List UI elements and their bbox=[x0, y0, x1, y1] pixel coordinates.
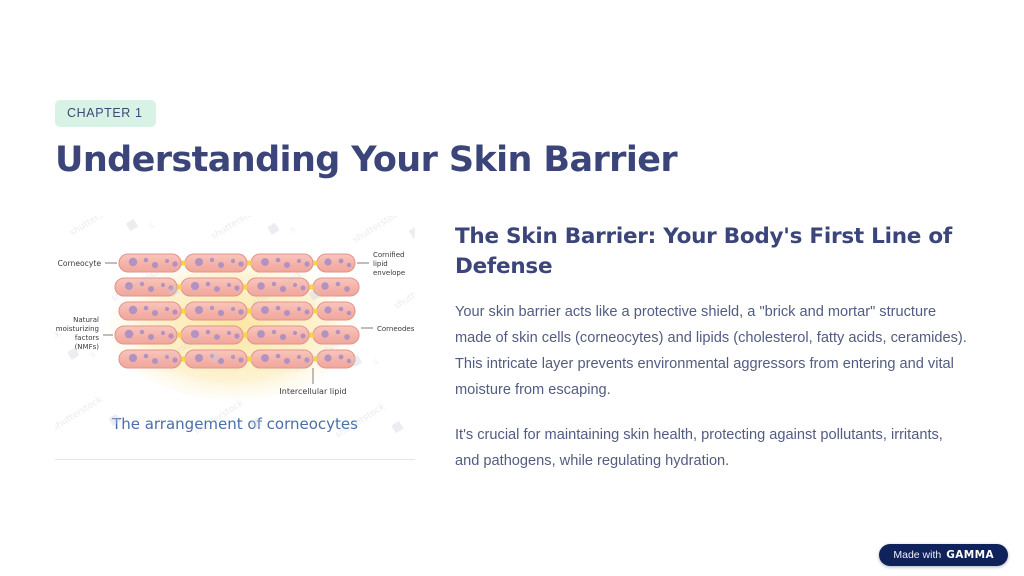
slide-canvas: CHAPTER 1 Understanding Your Skin Barrie… bbox=[0, 0, 1024, 576]
figure-caption: The arrangement of corneocytes bbox=[111, 415, 358, 433]
label-cornified-line-1: Cornified bbox=[373, 251, 404, 259]
made-with-gamma-badge[interactable]: Made with GAMMA bbox=[879, 544, 1008, 566]
body-paragraph-1: Your skin barrier acts like a protective… bbox=[455, 300, 967, 404]
content-area: shutterstock s bbox=[55, 216, 970, 475]
corneocyte-row-4 bbox=[115, 326, 359, 344]
label-nmf-line-4: (NMFs) bbox=[75, 343, 100, 351]
corneocyte-row-1 bbox=[119, 254, 355, 272]
label-corneodesmosome: Corneodesmosome bbox=[377, 325, 415, 333]
section-heading: The Skin Barrier: Your Body's First Line… bbox=[455, 222, 955, 281]
chapter-badge: CHAPTER 1 bbox=[55, 100, 156, 127]
label-corneocyte: Corneocyte bbox=[58, 259, 102, 268]
label-nmf-line-2: moisturizing bbox=[56, 325, 99, 333]
page-title: Understanding Your Skin Barrier bbox=[55, 141, 970, 180]
made-with-label: Made with bbox=[893, 550, 941, 561]
label-cornified-line-2: lipid bbox=[373, 260, 388, 268]
label-nmf-line-3: factors bbox=[75, 334, 100, 342]
corneocyte-diagram-svg: shutterstock s bbox=[55, 216, 415, 459]
slide-header: CHAPTER 1 Understanding Your Skin Barrie… bbox=[55, 100, 970, 179]
corneocyte-rows bbox=[115, 254, 359, 368]
corneocyte-row-3 bbox=[119, 302, 355, 320]
text-column: The Skin Barrier: Your Body's First Line… bbox=[455, 216, 970, 475]
body-paragraph-2: It's crucial for maintaining skin health… bbox=[455, 423, 967, 475]
corneocyte-row-5 bbox=[119, 350, 355, 368]
label-nmf-line-1: Natural bbox=[73, 316, 99, 324]
label-cornified-line-3: envelope bbox=[373, 269, 405, 277]
corneocyte-row-2 bbox=[115, 278, 359, 296]
label-intercellular-lipid: Intercellular lipid bbox=[279, 387, 346, 396]
figure-column: shutterstock s bbox=[55, 216, 415, 460]
skin-barrier-diagram: shutterstock s bbox=[55, 216, 415, 460]
gamma-brand-label: GAMMA bbox=[946, 550, 994, 561]
